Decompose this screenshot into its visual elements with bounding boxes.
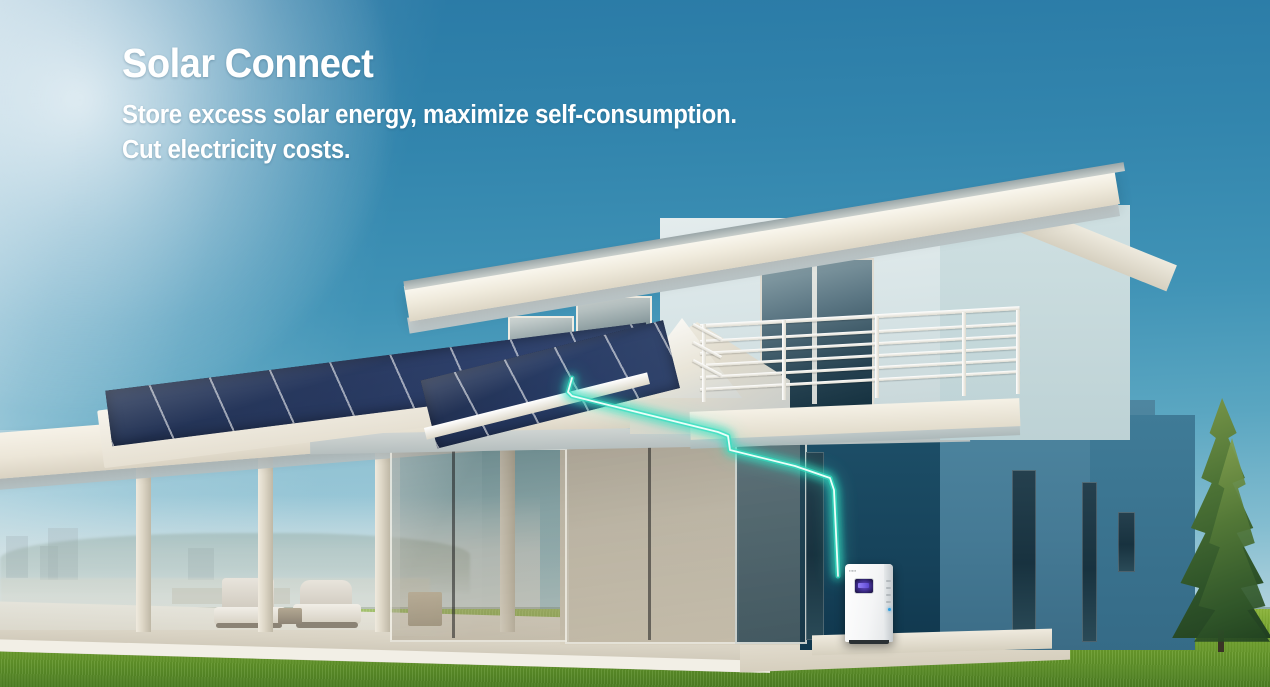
railing-return-bar-3 [692, 359, 722, 377]
railing-post-2 [782, 320, 786, 400]
conifer-tree-secondary [1194, 438, 1270, 648]
railing-post-5 [1016, 310, 1020, 394]
window-slim-entry [806, 452, 824, 640]
outdoor-armchair-seat [293, 604, 361, 624]
battery-vent-3 [886, 594, 891, 596]
page-subtitle: Store excess solar energy, maximize self… [122, 98, 737, 168]
pergola-column-1 [136, 460, 151, 632]
railing-post-3 [875, 316, 879, 398]
balcony-railing-left-return [690, 330, 720, 410]
railing-post-4 [962, 312, 966, 396]
glass-mullion-1 [452, 450, 455, 638]
window-slim-2 [1082, 482, 1097, 642]
home-battery-unit: ▪▪▪▪▪ [845, 564, 893, 642]
battery-vent-1 [886, 580, 891, 582]
battery-brand-logo: ▪▪▪▪▪ [849, 569, 856, 573]
outdoor-armchair-base [296, 622, 358, 628]
battery-display-screen [854, 578, 874, 594]
pergola-column-3 [375, 446, 390, 632]
ground-floor-glass-wall-center [565, 444, 739, 644]
page-title: Solar Connect [122, 40, 373, 86]
battery-side-panel [884, 564, 893, 642]
window-slim-3 [1118, 512, 1135, 572]
balcony-railing [700, 318, 1030, 418]
window-slim-1 [1012, 470, 1036, 640]
subtitle-line-2: Cut electricity costs. [122, 133, 737, 168]
glass-reflection-left [392, 450, 482, 636]
glass-mullion-2 [648, 446, 651, 640]
battery-vent-4 [886, 601, 891, 603]
solar-connect-hero-banner: ▪▪▪▪▪ Solar Connect Store excess solar e… [0, 0, 1270, 687]
battery-status-led [888, 608, 891, 611]
ground-floor-glass-wall-right [735, 442, 807, 644]
battery-base-feet [849, 640, 889, 644]
battery-vent-2 [886, 587, 891, 589]
railing-return-bar-2 [692, 341, 722, 359]
subtitle-line-1: Store excess solar energy, maximize self… [122, 98, 737, 133]
outdoor-side-table [278, 608, 302, 624]
conifer-crown-secondary [1194, 438, 1270, 648]
pergola-column-2 [258, 452, 273, 632]
